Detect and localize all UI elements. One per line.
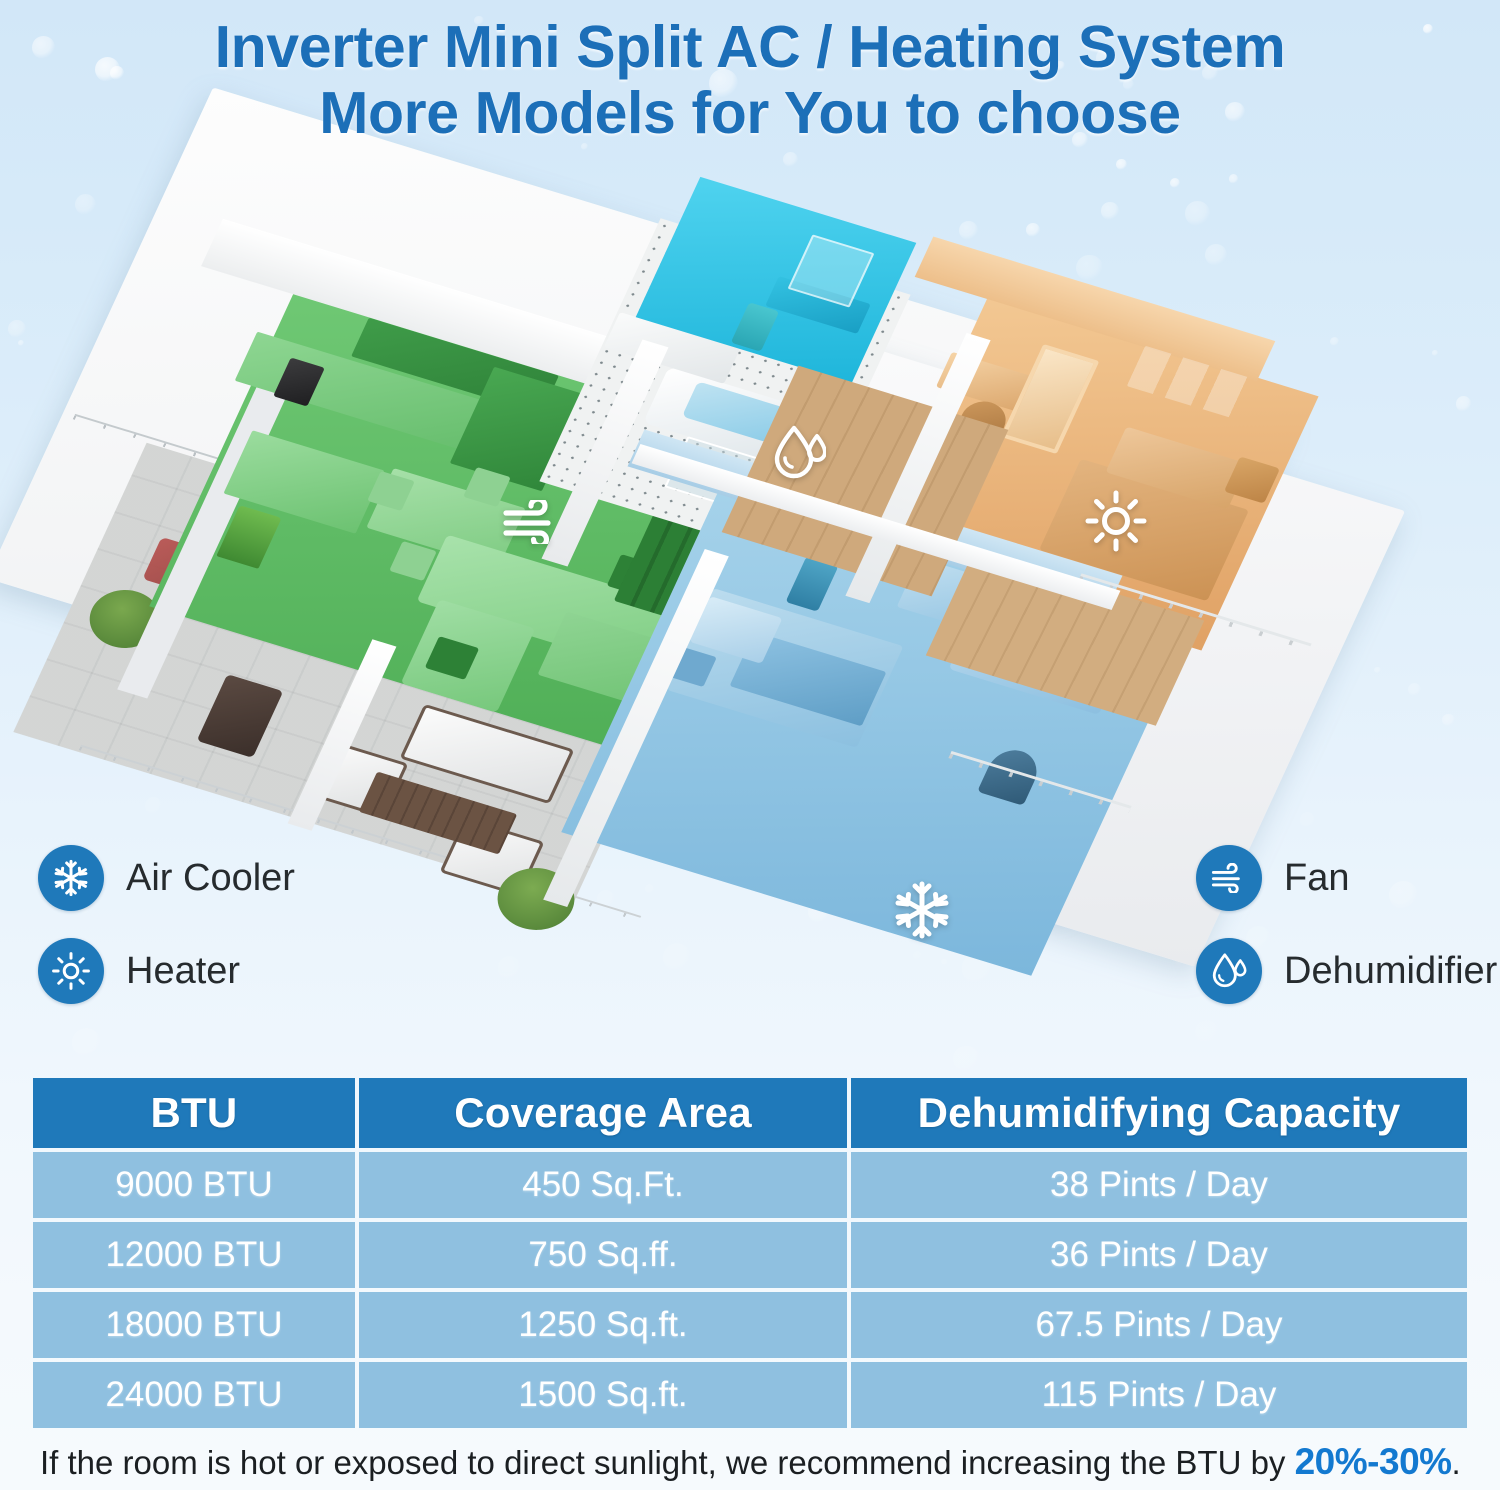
legend-item-fan: Fan	[1196, 845, 1349, 911]
water-drop-badge	[1196, 938, 1262, 1004]
legend-item-air-cooler: Air Cooler	[38, 845, 295, 911]
fan-icon	[1209, 863, 1249, 893]
title-line-1: Inverter Mini Split AC / Heating System	[215, 14, 1286, 80]
table-header-row: BTU Coverage Area Dehumidifying Capacity	[33, 1078, 1467, 1148]
footnote-highlight: 20%-30%	[1295, 1441, 1452, 1482]
table-row: 9000 BTU 450 Sq.Ft. 38 Pints / Day	[33, 1152, 1467, 1218]
legend-item-heater: Heater	[38, 938, 240, 1004]
page-title: Inverter Mini Split AC / Heating System …	[0, 14, 1500, 146]
title-line-2: More Models for You to choose	[0, 80, 1500, 146]
cell-capacity: 36 Pints / Day	[851, 1222, 1467, 1288]
cell-coverage: 750 Sq.ff.	[359, 1222, 847, 1288]
sun-icon	[51, 951, 91, 991]
cell-btu: 24000 BTU	[33, 1362, 355, 1428]
snowflake-icon	[51, 858, 91, 898]
legend-label-heater: Heater	[126, 950, 240, 993]
table-header-coverage-area: Coverage Area	[359, 1078, 847, 1148]
water-drop-icon	[1210, 951, 1248, 991]
cell-capacity: 67.5 Pints / Day	[851, 1292, 1467, 1358]
infographic-page: Inverter Mini Split AC / Heating System …	[0, 0, 1500, 1490]
snow-dot	[1116, 159, 1126, 169]
fan-icon	[500, 500, 564, 544]
cell-coverage: 1250 Sq.ft.	[359, 1292, 847, 1358]
sun-badge	[38, 938, 104, 1004]
cell-btu: 18000 BTU	[33, 1292, 355, 1358]
legend-label-dehumidifier: Dehumidifier	[1284, 950, 1497, 993]
table-row: 18000 BTU 1250 Sq.ft. 67.5 Pints / Day	[33, 1292, 1467, 1358]
cell-btu: 9000 BTU	[33, 1152, 355, 1218]
fan-badge	[1196, 845, 1262, 911]
snowflake-icon	[892, 880, 952, 940]
table-row: 24000 BTU 1500 Sq.ft. 115 Pints / Day	[33, 1362, 1467, 1428]
table-header-btu: BTU	[33, 1078, 355, 1148]
cell-capacity: 115 Pints / Day	[851, 1362, 1467, 1428]
legend-label-fan: Fan	[1284, 857, 1349, 900]
water-drop-icon	[772, 424, 826, 480]
cell-coverage: 1500 Sq.ft.	[359, 1362, 847, 1428]
legend-item-dehumidifier: Dehumidifier	[1196, 938, 1497, 1004]
footnote-suffix: .	[1452, 1444, 1461, 1481]
footnote-text: If the room is hot or exposed to direct …	[40, 1444, 1295, 1481]
btu-spec-table: BTU Coverage Area Dehumidifying Capacity…	[33, 1078, 1467, 1428]
table-header-dehumidifying-capacity: Dehumidifying Capacity	[851, 1078, 1467, 1148]
footnote: If the room is hot or exposed to direct …	[40, 1441, 1470, 1483]
snowflake-badge	[38, 845, 104, 911]
legend-label-air-cooler: Air Cooler	[126, 857, 295, 900]
snow-dot	[783, 152, 798, 167]
table-row: 12000 BTU 750 Sq.ff. 36 Pints / Day	[33, 1222, 1467, 1288]
cell-btu: 12000 BTU	[33, 1222, 355, 1288]
cell-capacity: 38 Pints / Day	[851, 1152, 1467, 1218]
sun-icon	[1085, 490, 1147, 552]
cell-coverage: 450 Sq.Ft.	[359, 1152, 847, 1218]
